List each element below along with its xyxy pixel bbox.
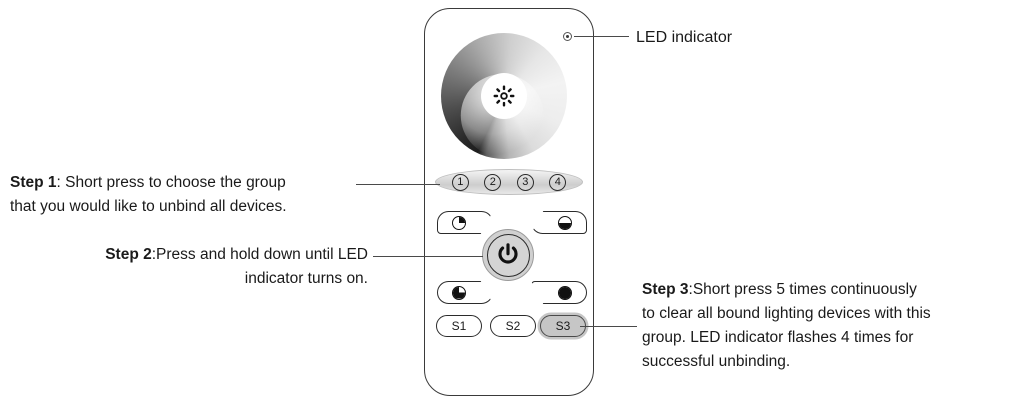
group-button-1[interactable]: 1 [452,174,469,191]
callout-step2-line1: Step 2:Press and hold down until LED [28,243,368,267]
callout-step3: Step 3:Short press 5 times continuously … [642,278,931,374]
half-circle-icon [558,216,572,230]
callout-step2-line1-rest: :Press and hold down until LED [152,246,368,263]
dial-center-hub[interactable] [481,73,527,119]
scene-button-s2[interactable]: S2 [490,315,536,337]
leader-line-step2 [373,256,483,257]
quarter-circle-icon [452,216,466,230]
callout-step2-bold: Step 2 [105,246,152,263]
illustration-canvas: 1 2 3 4 S1 S2 S3 LED indic [0,0,1024,405]
callout-step3-line4: successful unbinding. [642,350,931,374]
colour-dial[interactable] [441,33,567,159]
three-quarter-circle-icon [452,286,466,300]
leader-line-step3 [580,326,637,327]
leader-line-step1 [356,184,440,185]
group-selector-bar[interactable]: 1 2 3 4 [435,169,583,195]
callout-step1-bold: Step 1 [10,174,57,191]
callout-step1-line2: that you would like to unbind all device… [10,195,287,219]
power-button-inner [487,234,530,277]
power-icon [495,242,521,268]
group-button-4[interactable]: 4 [549,174,566,191]
callout-step3-line3: group. LED indicator flashes 4 times for [642,326,931,350]
callout-step3-bold: Step 3 [642,281,689,298]
callout-step3-line1: Step 3:Short press 5 times continuously [642,278,931,302]
callout-step3-line2: to clear all bound lighting devices with… [642,302,931,326]
group-button-2[interactable]: 2 [484,174,501,191]
callout-led-indicator-text: LED indicator [636,26,732,51]
callout-step1-line1-rest: : Short press to choose the group [57,174,286,191]
callout-step2-line2: indicator turns on. [28,267,368,291]
scene-button-s1[interactable]: S1 [436,315,482,337]
callout-step1: Step 1: Short press to choose the group … [10,171,287,219]
callout-step3-line1-rest: :Short press 5 times continuously [689,281,917,298]
callout-step1-line1: Step 1: Short press to choose the group [10,171,287,195]
callout-led-indicator: LED indicator [636,26,732,51]
leader-line-led-indicator [574,36,629,37]
group-button-3[interactable]: 3 [517,174,534,191]
gear-icon [493,85,515,107]
callout-step2: Step 2:Press and hold down until LED ind… [28,243,368,291]
full-circle-icon [558,286,572,300]
power-button[interactable] [482,229,534,281]
